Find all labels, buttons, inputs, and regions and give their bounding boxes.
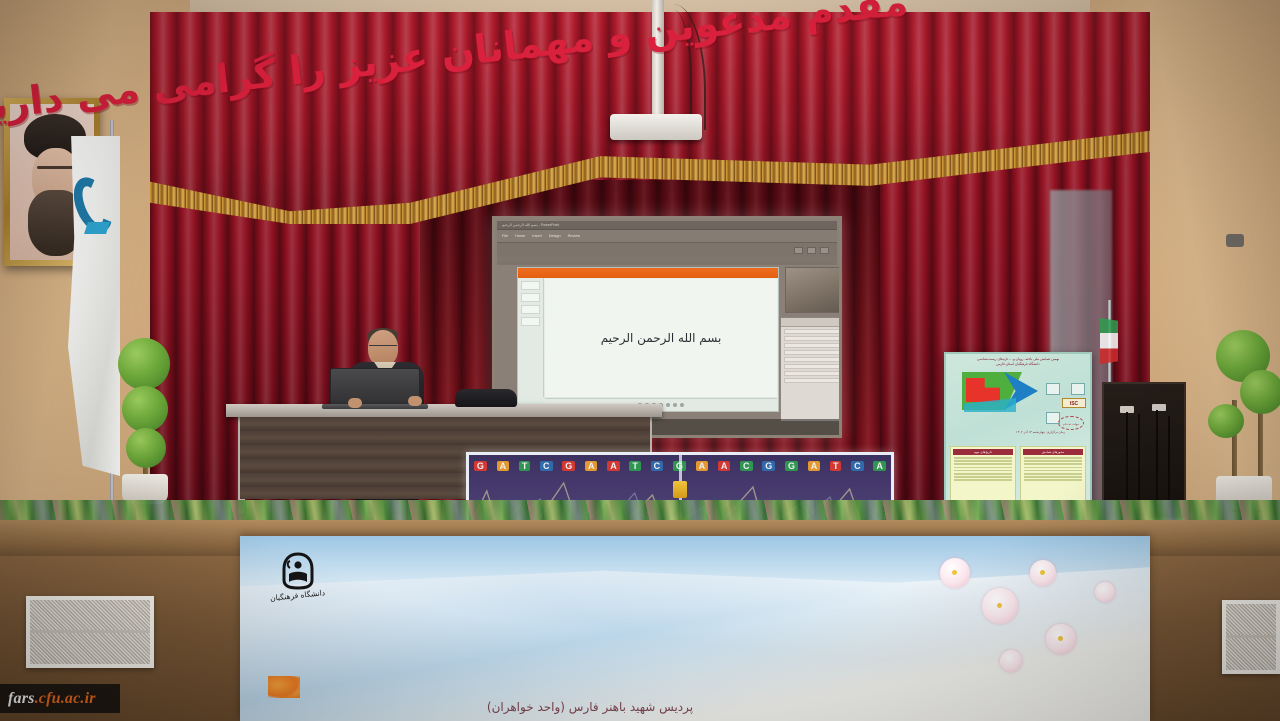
poster-column-right-title: محورهای همایش: [1023, 449, 1083, 455]
explorer-row[interactable]: [784, 343, 839, 348]
explorer-row[interactable]: [784, 378, 839, 383]
topiary-plant-icon: [1208, 404, 1244, 438]
presenter-hand-right: [408, 396, 422, 406]
watermark-primary: fars: [8, 690, 35, 708]
isc-badge: ISC: [1062, 398, 1086, 408]
ribbon-toolbar[interactable]: [497, 243, 837, 257]
welcome-banner: [240, 536, 1150, 721]
ribbon-tabs[interactable]: File Home Insert Design Review: [497, 230, 837, 243]
poster-header-line-2: دانشگاه فرهنگیان استان فارس: [996, 362, 1039, 366]
university-logo: دانشگاه فرهنگیان: [276, 552, 320, 608]
dna-letter: C: [851, 461, 864, 471]
explorer-row[interactable]: [784, 364, 839, 369]
explorer-row[interactable]: [784, 336, 839, 341]
topiary-plant-icon: [1240, 370, 1280, 414]
powerpoint-window: بسم الله الرحمن الرحیم - PowerPoint File…: [497, 221, 837, 265]
poster-header: نهمین همایش ملی یاخته، رویان و...، تازه‌…: [946, 354, 1090, 368]
toolbar-chip[interactable]: [807, 247, 816, 254]
explorer-titlebar: [781, 318, 839, 327]
dna-letter: G: [562, 461, 575, 471]
poster-sponsor-icon: [1046, 383, 1060, 395]
dna-letter: G: [474, 461, 487, 471]
status-dot-icon: [673, 403, 677, 407]
book-emblem-icon: [281, 552, 315, 590]
bag-on-desk: [455, 389, 517, 407]
ribbon-tab-insert[interactable]: Insert: [532, 234, 542, 238]
slide-canvas[interactable]: بسم الله الرحمن الرحیم: [545, 279, 777, 397]
poster-stamp: مهلت ثبت‌نام: [1058, 416, 1084, 430]
rack-connector: [1152, 404, 1166, 411]
ribbon-tab-review[interactable]: Review: [568, 234, 580, 238]
explorer-row[interactable]: [784, 350, 839, 355]
desk-surface: [226, 404, 662, 417]
projector-lens-icon: [1226, 234, 1244, 247]
dna-letter: C: [740, 461, 753, 471]
dna-letter: T: [629, 461, 641, 471]
dna-letter: C: [540, 461, 553, 471]
dna-letter: C: [651, 461, 664, 471]
conference-poster: نهمین همایش ملی یاخته، رویان و...، تازه‌…: [944, 352, 1092, 522]
butterfly-icon: [268, 676, 300, 698]
flag-emblem-bar: [84, 222, 110, 234]
explorer-row[interactable]: [784, 329, 839, 334]
university-name: دانشگاه فرهنگیان: [270, 588, 326, 603]
slide-title-text: بسم الله الرحمن الرحیم: [601, 331, 722, 345]
blossom-flower-icon: [1000, 650, 1022, 672]
laptop-icon[interactable]: [330, 368, 420, 408]
dna-board-tag-upper: [673, 481, 687, 498]
site-watermark: fars .cfu.ac.ir: [0, 684, 120, 713]
blossom-core-icon: [1058, 636, 1063, 641]
dna-letter: A: [808, 461, 821, 471]
dna-letter: T: [830, 461, 842, 471]
status-dot-icon: [680, 403, 684, 407]
air-vent-icon: [26, 596, 154, 668]
dna-letter: A: [585, 461, 598, 471]
poster-column-left-title: تاریخ‌های مهم: [953, 449, 1013, 455]
slide-thumbnail[interactable]: [521, 293, 540, 302]
blossom-core-icon: [997, 603, 1002, 608]
blossom-flower-icon: [1095, 582, 1115, 602]
dna-letter: A: [718, 461, 731, 471]
blossom-core-icon: [1040, 570, 1045, 575]
desktop-photo-thumbnail[interactable]: [785, 267, 839, 313]
rack-cable: [1138, 414, 1140, 514]
iran-flag-icon: [1100, 318, 1118, 364]
dna-letter: A: [497, 461, 510, 471]
air-vent-icon: [1222, 600, 1280, 674]
poster-header-line-1: نهمین همایش ملی یاخته، رویان و...، تازه‌…: [977, 357, 1059, 361]
slide-editor[interactable]: بسم الله الرحمن الرحیم: [517, 267, 779, 412]
watermark-secondary: .cfu.ac.ir: [35, 690, 96, 708]
poster-sponsor-icon: [1071, 383, 1085, 395]
flag-emblem-icon: [76, 176, 110, 234]
explorer-row[interactable]: [784, 371, 839, 376]
projector-icon: [610, 114, 702, 140]
status-dot-icon: [666, 403, 670, 407]
slide-thumbnail[interactable]: [521, 317, 540, 326]
toolbar-chip[interactable]: [794, 247, 803, 254]
banner-wave-graphic: [240, 536, 1150, 596]
portrait-brow: [37, 166, 75, 169]
slide-accent-bar: [518, 268, 778, 278]
dna-letter: A: [696, 461, 709, 471]
dna-letter: G: [762, 461, 775, 471]
banner-subtitle: پردیس شهید باهنر فارس (واحد خواهران): [380, 700, 800, 714]
topiary-plant-icon: [118, 338, 170, 390]
toolbar-chip[interactable]: [820, 247, 829, 254]
explorer-row[interactable]: [784, 357, 839, 362]
topiary-plant-icon: [122, 386, 168, 432]
ribbon-tab-home[interactable]: Home: [515, 234, 525, 238]
glasses-icon: [369, 345, 397, 350]
slide-thumbnail[interactable]: [521, 281, 540, 290]
equipment-rack: [1102, 382, 1186, 518]
dna-letter: T: [519, 461, 531, 471]
presenter-hand-left: [348, 398, 362, 408]
window-title: بسم الله الرحمن الرحیم - PowerPoint: [497, 221, 837, 230]
slide-thumbnail-panel[interactable]: [518, 278, 544, 397]
slide-thumbnail[interactable]: [521, 305, 540, 314]
topiary-plant-icon: [126, 428, 166, 468]
dna-letter: A: [607, 461, 620, 471]
ribbon-tab-design[interactable]: Design: [549, 234, 561, 238]
poster-logo: ISC: [946, 368, 1090, 414]
auditorium-photo: بسم الله الرحمن الرحیم - PowerPoint File…: [0, 0, 1280, 721]
dna-letter: A: [873, 461, 886, 471]
ribbon-tab-file[interactable]: File: [502, 234, 508, 238]
dna-letter: G: [785, 461, 798, 471]
blossom-core-icon: [952, 570, 957, 575]
poster-date-note: زمان برگزاری: چهارشنبه ۱۴ آذر ۱۴۰۲: [1016, 430, 1065, 434]
file-explorer-window[interactable]: [780, 317, 839, 422]
